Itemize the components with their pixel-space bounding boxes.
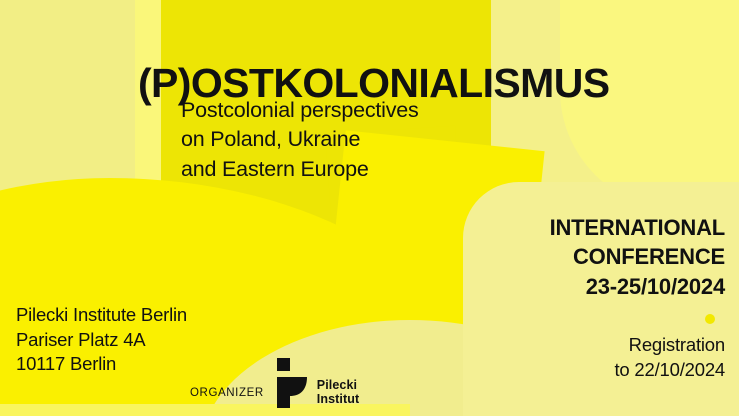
pilecki-institut-logo: Pilecki Institut xyxy=(276,358,359,408)
pilecki-i-mark-icon xyxy=(276,358,310,408)
subtitle-line-2: on Poland, Ukraine xyxy=(181,125,419,154)
conference-line-2: CONFERENCE xyxy=(550,242,725,271)
subtitle-line-3: and Eastern Europe xyxy=(181,155,419,184)
decorative-dot xyxy=(705,314,715,324)
registration-label: Registration xyxy=(614,333,725,358)
registration-deadline: to 22/10/2024 xyxy=(614,358,725,383)
logo-wordmark: Pilecki Institut xyxy=(317,378,359,408)
conference-poster: (P)OSTKOLONIALISMUS Postcolonial perspec… xyxy=(0,0,739,416)
poster-subtitle: Postcolonial perspectives on Poland, Ukr… xyxy=(181,96,419,184)
address-line-1: Pilecki Institute Berlin xyxy=(16,303,187,328)
address-line-3: 10117 Berlin xyxy=(16,352,187,377)
organizer-row: ORGANIZER Pilecki Institut xyxy=(190,358,359,408)
conference-dates: 23-25/10/2024 xyxy=(550,272,725,301)
logo-name-line-1: Pilecki xyxy=(317,378,359,393)
logo-name-line-2: Institut xyxy=(317,392,359,407)
registration-info: Registration to 22/10/2024 xyxy=(614,333,725,383)
background-shape-light-band xyxy=(135,0,171,230)
subtitle-line-1: Postcolonial perspectives xyxy=(181,96,419,125)
venue-address: Pilecki Institute Berlin Pariser Platz 4… xyxy=(16,303,187,377)
conference-info: INTERNATIONAL CONFERENCE 23-25/10/2024 xyxy=(550,213,725,301)
organizer-label: ORGANIZER xyxy=(190,387,264,408)
address-line-2: Pariser Platz 4A xyxy=(16,328,187,353)
background-shape-bright-column xyxy=(368,205,508,416)
conference-line-1: INTERNATIONAL xyxy=(550,213,725,242)
